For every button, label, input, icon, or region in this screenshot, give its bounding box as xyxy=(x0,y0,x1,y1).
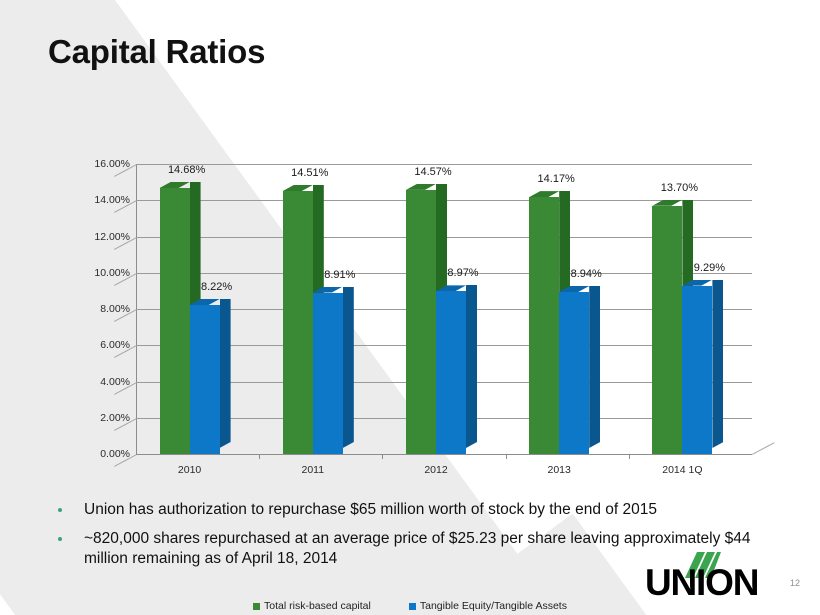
data-label: 13.70% xyxy=(661,182,698,194)
bar-total-risk-based-capital-2012 xyxy=(406,190,436,454)
x-axis-tick xyxy=(382,454,383,459)
data-label: 9.29% xyxy=(694,262,725,274)
y-axis-tick-label: 10.00% xyxy=(94,267,130,279)
bar-front-face xyxy=(436,291,466,454)
bar-front-face xyxy=(313,293,343,454)
bar-side-face xyxy=(466,285,477,448)
y-axis-tick-label: 2.00% xyxy=(100,412,130,424)
y-axis-tick-label: 14.00% xyxy=(94,194,130,206)
legend-label: Total risk-based capital xyxy=(264,600,371,612)
y-axis-tick-label: 8.00% xyxy=(100,303,130,315)
data-label: 8.97% xyxy=(447,267,478,279)
x-axis-tick-label: 2013 xyxy=(548,464,571,476)
legend-swatch-icon xyxy=(409,603,416,610)
chart-plot-area: 14.68%8.22%201014.51%8.91%201114.57%8.97… xyxy=(136,142,752,454)
bar-side-face xyxy=(712,280,723,448)
bar-tangible-equity-2010 xyxy=(190,305,220,454)
bar-side-face xyxy=(220,299,231,448)
bar-side-face xyxy=(343,287,354,448)
y-axis-tick-label: 12.00% xyxy=(94,231,130,243)
bar-front-face xyxy=(682,286,712,454)
y-axis-tick-label: 0.00% xyxy=(100,448,130,460)
bar-front-face xyxy=(283,191,313,454)
y-axis-tick-label: 4.00% xyxy=(100,376,130,388)
x-axis-line xyxy=(136,454,752,455)
bar-front-face xyxy=(406,190,436,454)
bar-tangible-equity-2012 xyxy=(436,291,466,454)
bar-front-face xyxy=(529,197,559,454)
x-axis-tick xyxy=(629,454,630,459)
x-axis-tick-label: 2014 1Q xyxy=(662,464,702,476)
bar-tangible-equity-2013 xyxy=(559,292,589,454)
bar-total-risk-based-capital-2014-1Q xyxy=(652,206,682,454)
bar-tangible-equity-2014-1Q xyxy=(682,286,712,454)
data-label: 8.22% xyxy=(201,281,232,293)
x-axis-tick-label: 2011 xyxy=(302,464,325,476)
bar-front-face xyxy=(190,305,220,454)
bar-total-risk-based-capital-2013 xyxy=(529,197,559,454)
x-axis-tick-label: 2010 xyxy=(178,464,201,476)
legend-item: Tangible Equity/Tangible Assets xyxy=(409,600,567,612)
slide-canvas: Capital Ratios 16.00%14.00%12.00%10.00%8… xyxy=(0,0,820,615)
page-title: Capital Ratios xyxy=(48,33,265,71)
x-axis-tick xyxy=(506,454,507,459)
bar-total-risk-based-capital-2010 xyxy=(160,188,190,454)
bullet-item: Union has authorization to repurchase $6… xyxy=(48,500,788,520)
y-axis-tick-label: 16.00% xyxy=(94,158,130,170)
data-label: 14.17% xyxy=(538,173,575,185)
capital-ratios-chart: 16.00%14.00%12.00%10.00%8.00%6.00%4.00%2… xyxy=(0,130,820,490)
bar-tangible-equity-2011 xyxy=(313,293,343,454)
data-label: 14.57% xyxy=(414,166,451,178)
legend-label: Tangible Equity/Tangible Assets xyxy=(420,600,567,612)
floor-right-edge xyxy=(752,442,775,455)
x-axis-tick xyxy=(259,454,260,459)
bar-front-face xyxy=(652,206,682,454)
logo-wordmark: UNION xyxy=(645,562,758,604)
bullet-text: Union has authorization to repurchase $6… xyxy=(84,500,657,520)
data-label: 14.68% xyxy=(168,164,205,176)
union-logo: UNION xyxy=(645,558,785,604)
legend-item: Total risk-based capital xyxy=(253,600,371,612)
data-label: 8.94% xyxy=(571,268,602,280)
y-axis-labels: 16.00%14.00%12.00%10.00%8.00%6.00%4.00%2… xyxy=(68,130,130,490)
bar-side-face xyxy=(589,286,600,448)
data-label: 8.91% xyxy=(324,269,355,281)
bar-front-face xyxy=(559,292,589,454)
legend-swatch-icon xyxy=(253,603,260,610)
x-axis-tick-label: 2012 xyxy=(424,464,447,476)
gridline xyxy=(136,164,752,165)
bullet-dot-icon xyxy=(58,537,62,541)
bar-front-face xyxy=(160,188,190,454)
page-number: 12 xyxy=(790,578,800,588)
bar-total-risk-based-capital-2011 xyxy=(283,191,313,454)
bullet-dot-icon xyxy=(58,508,62,512)
data-label: 14.51% xyxy=(291,167,328,179)
